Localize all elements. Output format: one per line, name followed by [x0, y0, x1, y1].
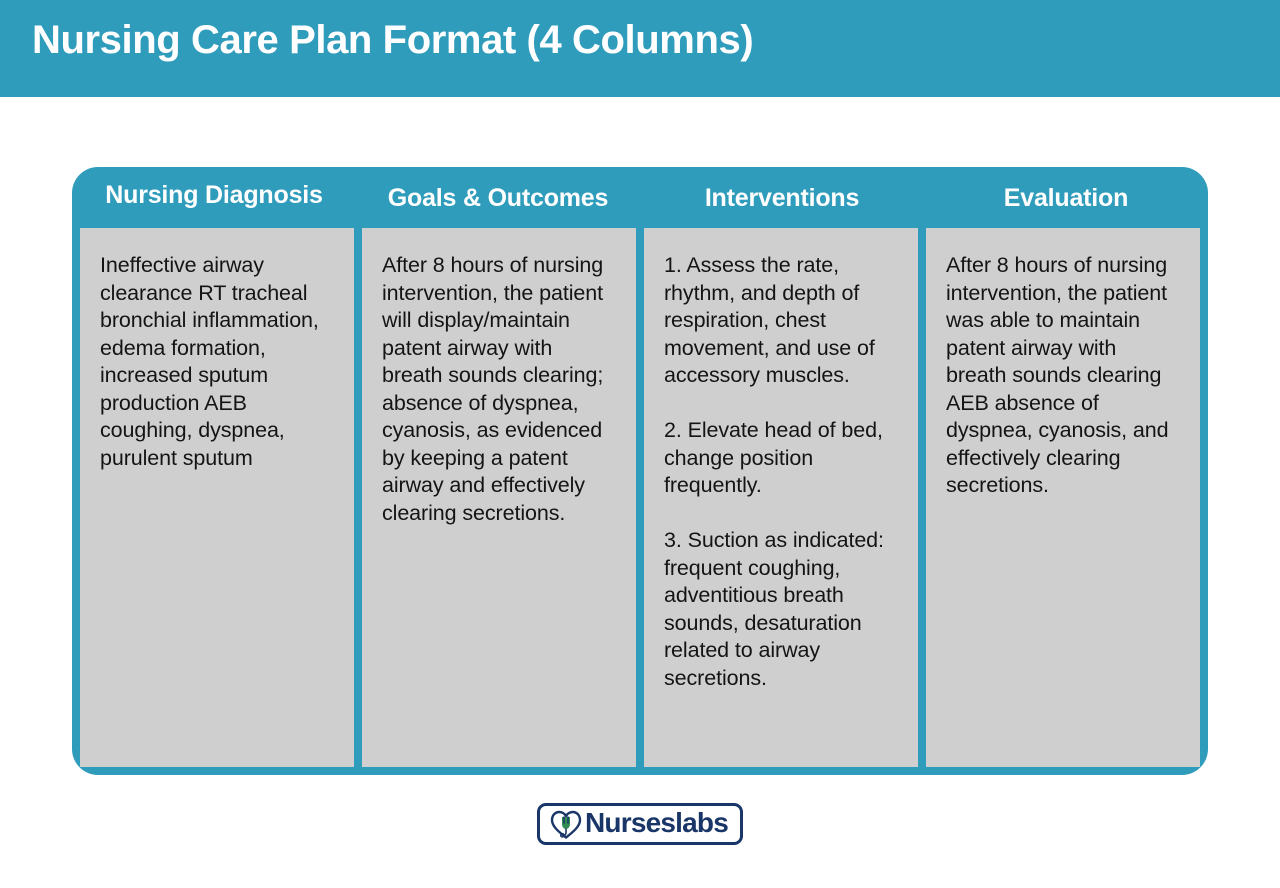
column-header-label: Evaluation	[1004, 184, 1128, 213]
page-title-bar: Nursing Care Plan Format (4 Columns)	[0, 0, 1280, 97]
cell-text: After 8 hours of nursing intervention, t…	[946, 252, 1180, 500]
cell-text: After 8 hours of nursing intervention, t…	[382, 252, 616, 527]
heart-stethoscope-icon	[549, 808, 583, 840]
table-cell-evaluation: After 8 hours of nursing intervention, t…	[926, 228, 1200, 767]
table-header-row: Nursing Diagnosis Goals & Outcomes Inter…	[72, 167, 1208, 228]
column-header-interventions: Interventions	[640, 167, 924, 228]
table-body-row: Ineffective airway clearance RT tracheal…	[80, 228, 1200, 767]
column-header-label: Goals & Outcomes	[388, 184, 608, 213]
column-header-nursing-diagnosis: Nursing Diagnosis	[72, 167, 356, 228]
column-header-goals-outcomes: Goals & Outcomes	[356, 167, 640, 228]
column-header-label: Nursing Diagnosis	[105, 181, 322, 210]
column-header-label: Interventions	[705, 184, 859, 213]
care-plan-table: Nursing Diagnosis Goals & Outcomes Inter…	[72, 167, 1208, 775]
cell-text: 1. Assess the rate, rhythm, and depth of…	[664, 252, 898, 692]
table-cell-goals-outcomes: After 8 hours of nursing intervention, t…	[362, 228, 636, 767]
cell-text: Ineffective airway clearance RT tracheal…	[100, 252, 334, 472]
column-header-evaluation: Evaluation	[924, 167, 1208, 228]
nurseslabs-logo: Nurseslabs	[537, 803, 743, 845]
page-title: Nursing Care Plan Format (4 Columns)	[32, 18, 753, 63]
table-cell-interventions: 1. Assess the rate, rhythm, and depth of…	[644, 228, 918, 767]
table-cell-nursing-diagnosis: Ineffective airway clearance RT tracheal…	[80, 228, 354, 767]
nurseslabs-wordmark: Nurseslabs	[585, 809, 728, 837]
